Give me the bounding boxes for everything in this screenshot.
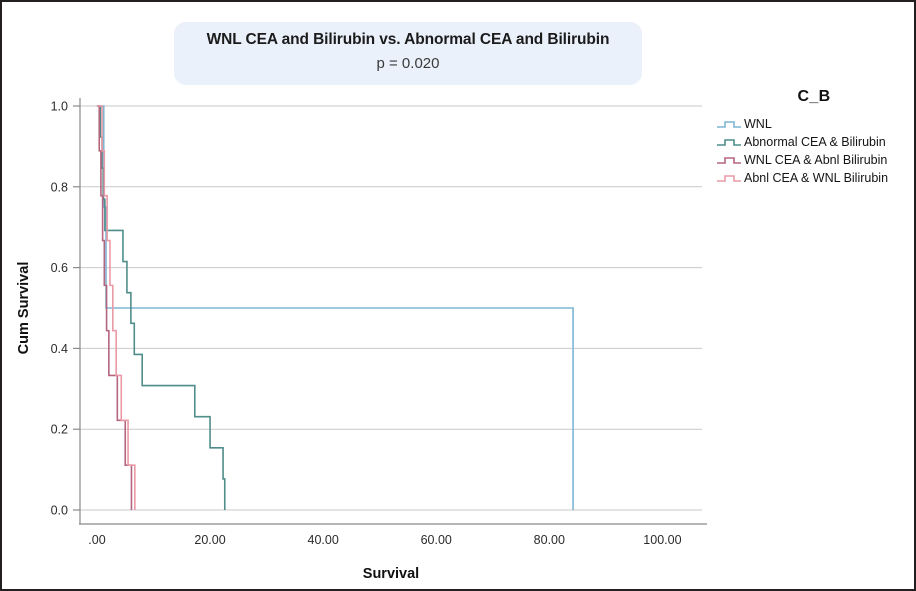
legend-step-marker-icon [716, 137, 742, 148]
y-tick-label: 0.0 [51, 504, 68, 518]
legend-rows: WNLAbnormal CEA & BilirubinWNL CEA & Abn… [716, 116, 912, 187]
y-axis-title: Cum Survival [16, 262, 32, 355]
y-tick-label: 0.4 [51, 342, 68, 356]
legend-item[interactable]: WNL CEA & Abnl Bilirubin [716, 152, 912, 169]
y-tick-label: 0.6 [51, 261, 68, 275]
x-tick-label: 60.00 [421, 533, 452, 547]
legend-item-label: Abnl CEA & WNL Bilirubin [744, 172, 888, 185]
x-tick-label: .00 [88, 533, 105, 547]
legend-item-label: WNL [744, 118, 772, 131]
x-tick-label: 100.00 [643, 533, 681, 547]
survival-curve-0 [97, 106, 573, 510]
x-tick-label: 80.00 [534, 533, 565, 547]
legend-item[interactable]: Abnl CEA & WNL Bilirubin [716, 170, 912, 187]
x-tick-label: 40.00 [308, 533, 339, 547]
legend-step-marker-icon [716, 173, 742, 184]
legend-title: C_B [716, 88, 912, 106]
x-axis-title: Survival [363, 566, 419, 582]
legend-item-label: Abnormal CEA & Bilirubin [744, 136, 886, 149]
y-tick-label: 0.2 [51, 423, 68, 437]
y-tick-label: 1.0 [51, 100, 68, 114]
legend-item[interactable]: Abnormal CEA & Bilirubin [716, 134, 912, 151]
y-tick-label: 0.8 [51, 180, 68, 194]
legend-step-marker-icon [716, 155, 742, 166]
x-tick-label: 20.00 [194, 533, 225, 547]
legend-item-label: WNL CEA & Abnl Bilirubin [744, 154, 887, 167]
legend-step-marker-icon [716, 119, 742, 130]
survival-chart-figure: WNL CEA and Bilirubin vs. Abnormal CEA a… [0, 0, 916, 591]
chart-legend: C_B WNLAbnormal CEA & BilirubinWNL CEA &… [716, 88, 912, 188]
legend-item[interactable]: WNL [716, 116, 912, 133]
